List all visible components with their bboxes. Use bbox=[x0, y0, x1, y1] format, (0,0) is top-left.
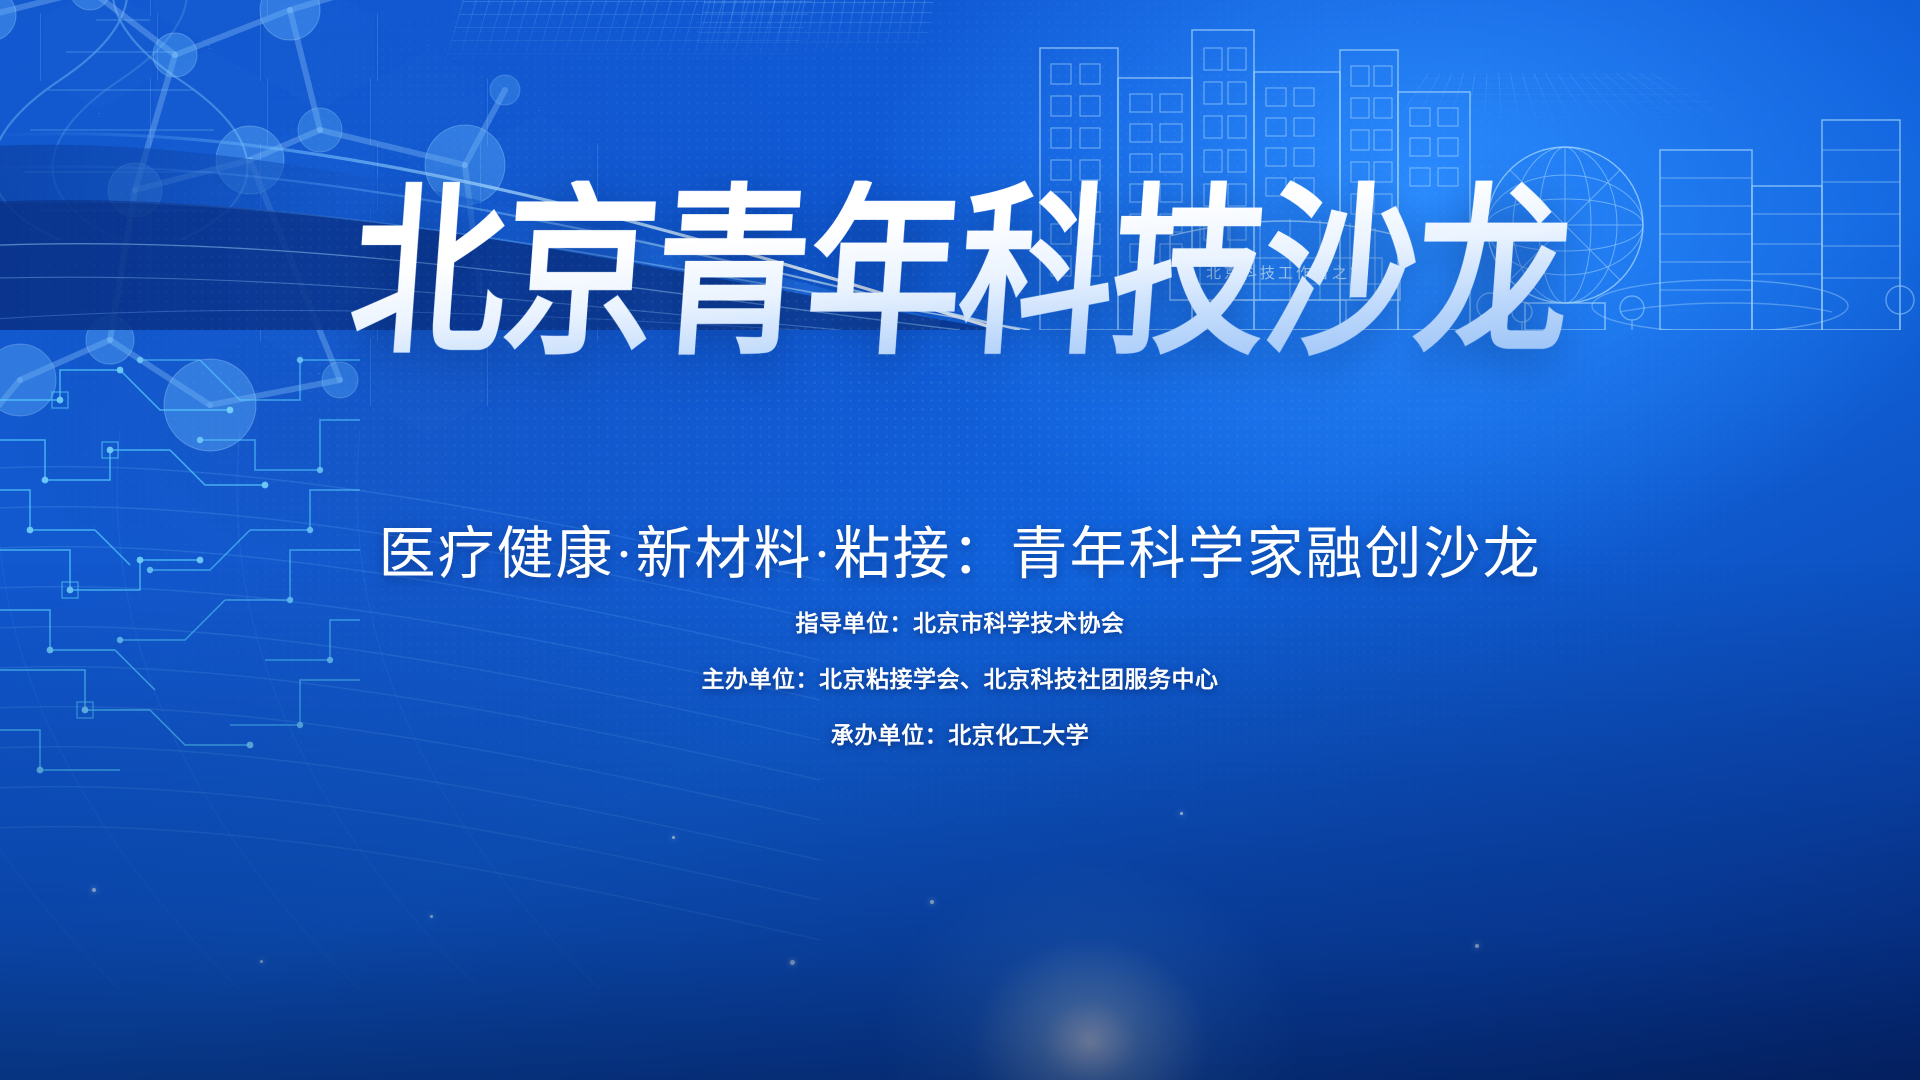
organizer-list: 指导单位：北京市科学技术协会 主办单位：北京粘接学会、北京科技社团服务中心 承办… bbox=[0, 612, 1920, 780]
poster-canvas: 北京科技工作者之家 北京青年科技沙龙 医疗健康·新材料·粘接：青年科学家融创沙龙… bbox=[0, 0, 1920, 1080]
organizer-line-host: 主办单位：北京粘接学会、北京科技社团服务中心 bbox=[0, 668, 1920, 691]
poster-subtitle: 医疗健康·新材料·粘接：青年科学家融创沙龙 bbox=[0, 508, 1920, 590]
page-title: 北京青年科技沙龙 bbox=[0, 181, 1920, 366]
organizer-line-guidance: 指导单位：北京市科学技术协会 bbox=[0, 612, 1920, 635]
poster-content: 北京青年科技沙龙 医疗健康·新材料·粘接：青年科学家融创沙龙 指导单位：北京市科… bbox=[0, 0, 1920, 1080]
organizer-line-organizer: 承办单位：北京化工大学 bbox=[0, 724, 1920, 747]
